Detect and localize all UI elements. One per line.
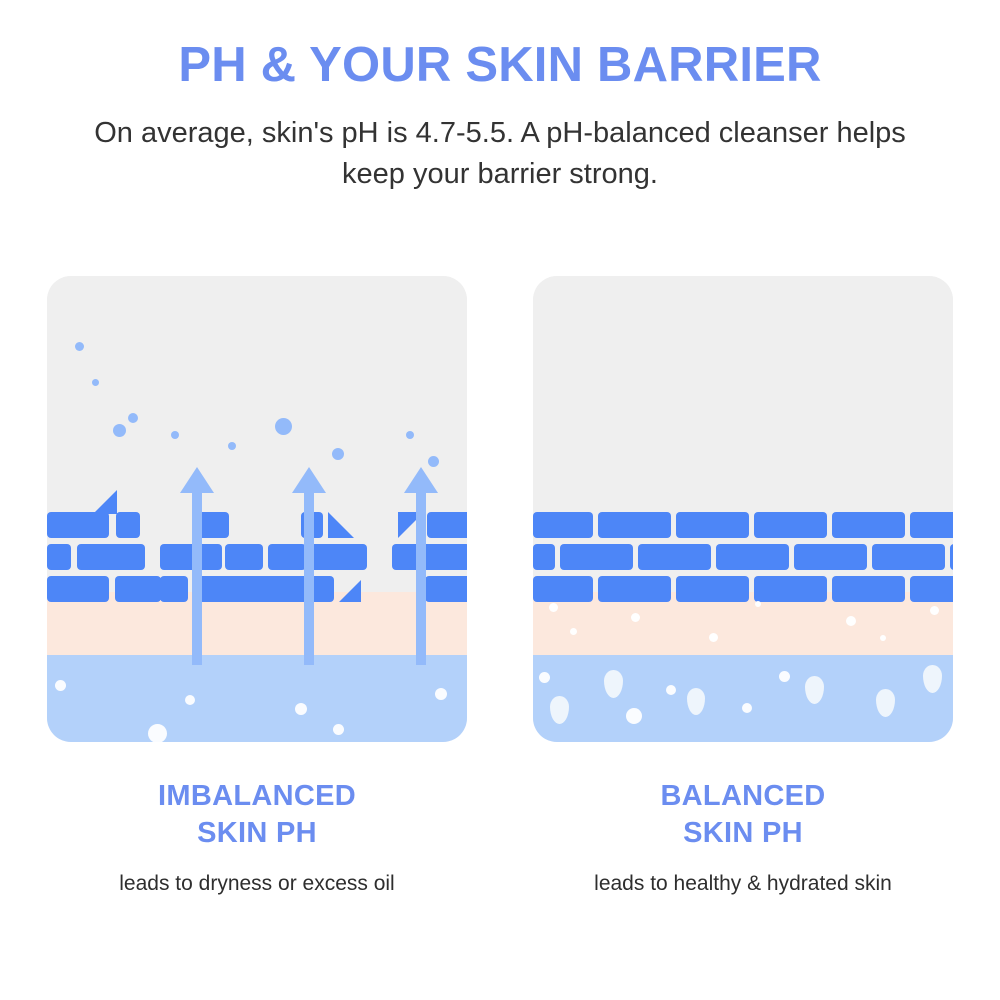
barrier-brick: [47, 576, 109, 602]
caption-imbalanced: IMBALANCED SKIN PH leads to dryness or e…: [47, 778, 467, 898]
barrier-brick: [598, 512, 671, 538]
barrier-brick: [910, 512, 953, 538]
hydration-speck: [846, 616, 856, 626]
caption-title-line1: IMBALANCED: [47, 778, 467, 815]
hydration-dot: [435, 688, 447, 700]
caption-title-line2: SKIN PH: [47, 815, 467, 852]
barrier-brick: [832, 576, 905, 602]
page-title: PH & YOUR SKIN BARRIER: [0, 40, 1000, 91]
barrier-brick: [638, 544, 711, 570]
barrier-brick: [533, 544, 555, 570]
caption-sub-balanced: leads to healthy & hydrated skin: [533, 870, 953, 897]
arrow-shaft: [416, 489, 426, 665]
moisture-loss-arrow: [292, 467, 326, 665]
hydration-dot: [295, 703, 307, 715]
barrier-brick: [533, 512, 593, 538]
barrier-brick: [225, 544, 263, 570]
moisture-loss-arrow: [180, 467, 214, 665]
escaping-moisture-dot: [75, 342, 84, 351]
moisture-loss-arrow: [404, 467, 438, 665]
escaping-moisture-dot: [92, 379, 99, 386]
caption-title-line2: SKIN PH: [533, 815, 953, 852]
caption-balanced: BALANCED SKIN PH leads to healthy & hydr…: [533, 778, 953, 898]
page-subtitle: On average, skin's pH is 4.7-5.5. A pH-b…: [90, 113, 910, 195]
barrier-brick: [560, 544, 633, 570]
barrier-brick: [676, 576, 749, 602]
escaping-moisture-dot: [171, 431, 179, 439]
barrier-brick: [950, 544, 953, 570]
escaping-moisture-dot: [428, 456, 439, 467]
barrier-brick: [754, 512, 827, 538]
barrier-brick: [676, 512, 749, 538]
hydration-speck: [930, 606, 939, 615]
panel-balanced: [533, 276, 953, 742]
hydration-dot: [779, 671, 790, 682]
barrier-brick: [47, 512, 109, 538]
hydration-speck: [549, 603, 558, 612]
barrier-brick: [598, 576, 671, 602]
hydration-dot: [742, 703, 752, 713]
layer-hypodermis: [47, 655, 467, 742]
hydration-dot: [539, 672, 550, 683]
escaping-moisture-dot: [113, 424, 126, 437]
hydration-dot: [185, 695, 195, 705]
caption-sub-imbalanced: leads to dryness or excess oil: [47, 870, 467, 897]
arrow-shaft: [304, 489, 314, 665]
hydration-speck: [631, 613, 640, 622]
hydration-dot: [666, 685, 676, 695]
panel-imbalanced: [47, 276, 467, 742]
hydration-dot: [333, 724, 344, 735]
barrier-brick: [716, 544, 789, 570]
hydration-speck: [755, 601, 761, 607]
barrier-brick: [910, 576, 953, 602]
barrier-brick: [872, 544, 945, 570]
infographic-root: PH & YOUR SKIN BARRIER On average, skin'…: [0, 0, 1000, 1000]
caption-title-line1: BALANCED: [533, 778, 953, 815]
barrier-brick: [115, 576, 161, 602]
caption-title-imbalanced: IMBALANCED SKIN PH: [47, 778, 467, 852]
escaping-moisture-dot: [275, 418, 292, 435]
barrier-brick: [832, 512, 905, 538]
escaping-moisture-dot: [332, 448, 344, 460]
hydration-speck: [709, 633, 718, 642]
barrier-brick: [116, 512, 140, 538]
barrier-brick: [47, 544, 71, 570]
barrier-brick: [794, 544, 867, 570]
caption-title-balanced: BALANCED SKIN PH: [533, 778, 953, 852]
barrier-brick: [533, 576, 593, 602]
hydration-dot: [148, 724, 167, 742]
barrier-brick: [754, 576, 827, 602]
hydration-speck: [880, 635, 886, 641]
hydration-dot: [626, 708, 642, 724]
escaping-moisture-dot: [228, 442, 236, 450]
arrow-shaft: [192, 489, 202, 665]
escaping-moisture-dot: [128, 413, 138, 423]
barrier-brick: [77, 544, 145, 570]
hydration-dot: [55, 680, 66, 691]
hydration-speck: [570, 628, 577, 635]
escaping-moisture-dot: [406, 431, 414, 439]
